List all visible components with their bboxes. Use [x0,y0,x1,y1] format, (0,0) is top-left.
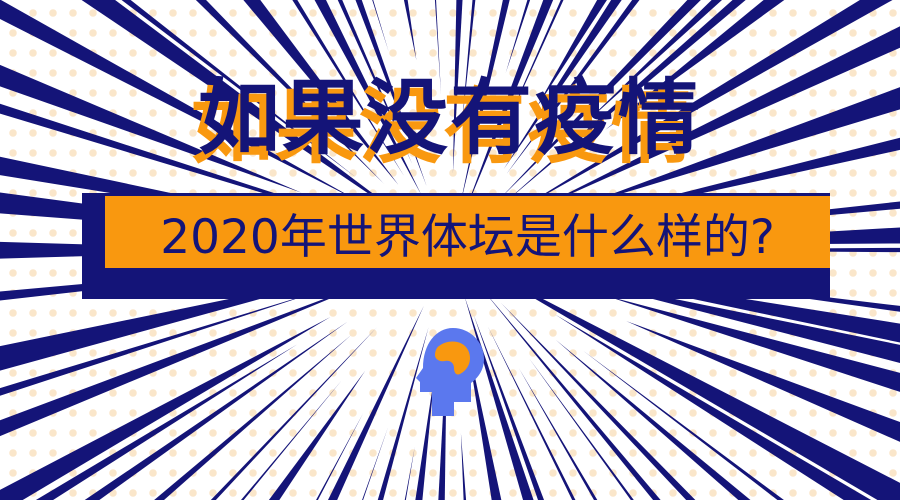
title-front-text: 如果没有疫情 [198,78,702,160]
poster-canvas: 如果没有疫情 如果没有疫情 2020年世界体坛是什么样的? [0,0,900,500]
subtitle-text: 2020年世界体坛是什么样的? [160,198,775,267]
title-stack: 如果没有疫情 如果没有疫情 [198,78,702,160]
subtitle-banner: 2020年世界体坛是什么样的? [82,193,830,299]
head-brain-icon [412,326,490,420]
main-title: 如果没有疫情 如果没有疫情 [0,78,900,160]
head-silhouette-shape [416,328,484,416]
banner-face-box: 2020年世界体坛是什么样的? [105,196,830,268]
